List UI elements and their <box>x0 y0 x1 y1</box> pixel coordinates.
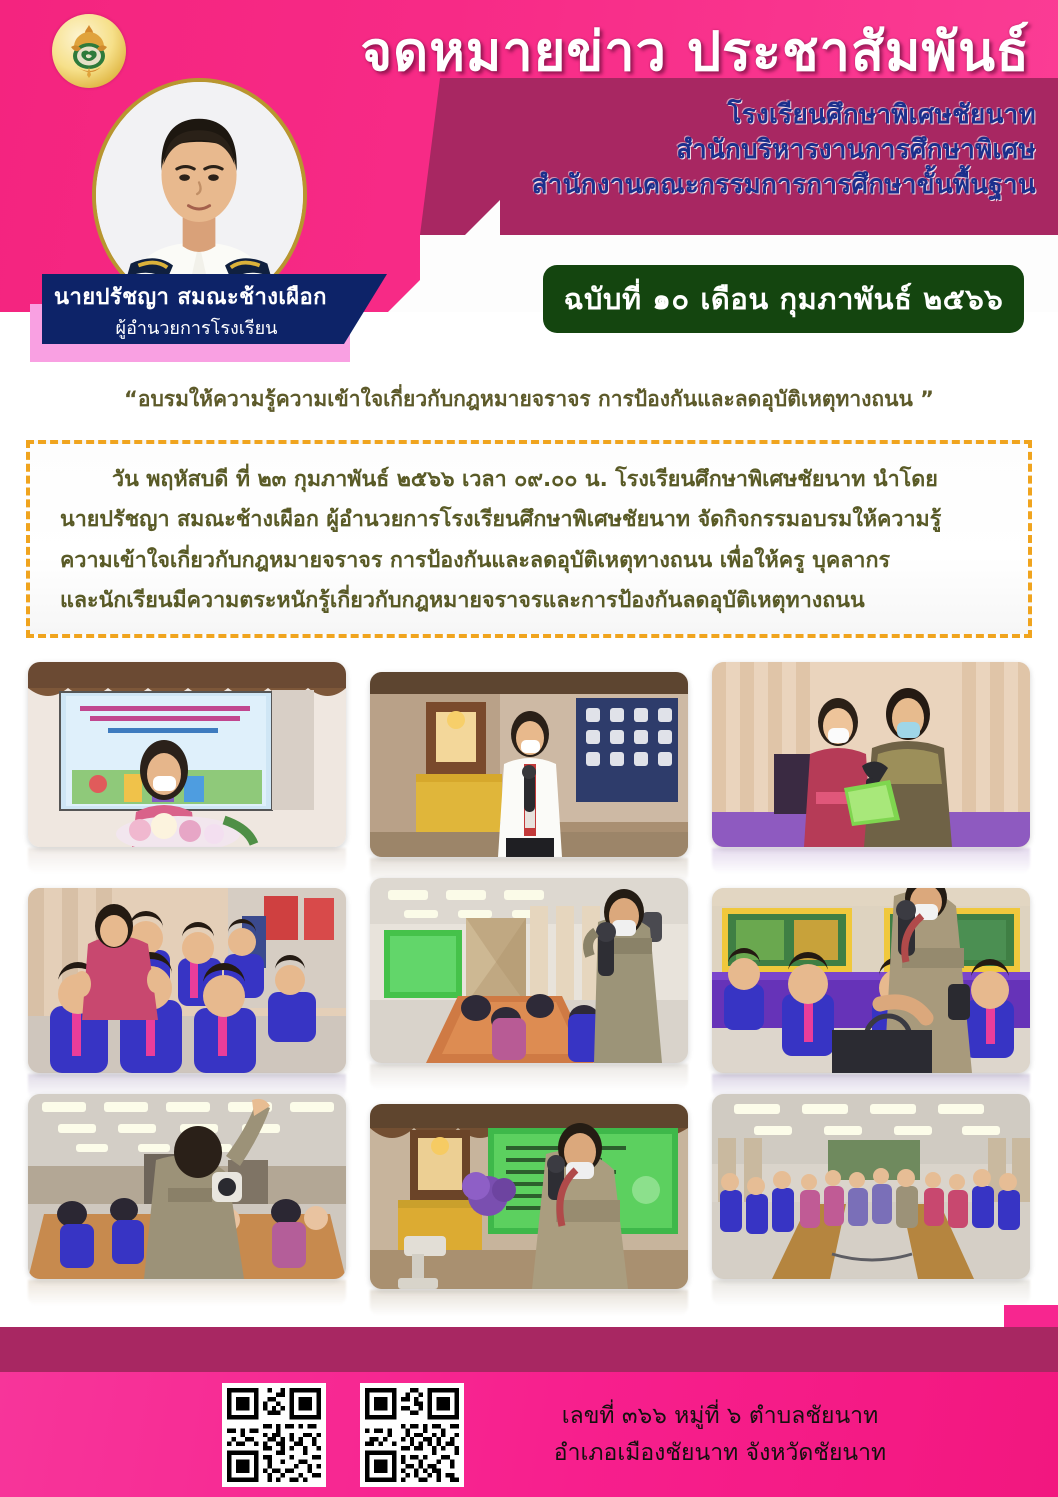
body-line-2: นายปรัชญา สมณะช้างเผือก ผู้อำนวยการโรงเร… <box>60 500 998 540</box>
photo-reflection <box>28 1280 346 1306</box>
photo-2 <box>370 672 688 857</box>
photo-6 <box>712 888 1030 1073</box>
director-name: นายปรัชญา สมณะช้างเผือก <box>54 279 387 314</box>
director-banner: นายปรัชญา สมณะช้างเผือก ผู้อำนวยการโรงเร… <box>42 274 387 344</box>
photo-reflection <box>370 1290 688 1316</box>
photo-8 <box>370 1104 688 1289</box>
activity-quote: “อบรมให้ความรู้ความเข้าใจเกี่ยวกับกฎหมาย… <box>0 383 1058 416</box>
body-line-4: และนักเรียนมีความตระหนักรู้เกี่ยวกับกฎหม… <box>60 581 998 621</box>
photo-9 <box>712 1094 1030 1279</box>
address-line-2: อำเภอเมืองชัยนาท จังหวัดชัยนาท <box>500 1435 940 1472</box>
obec-garuda-emblem-icon <box>52 14 126 88</box>
body-line-1: วัน พฤหัสบดี ที่ ๒๓ กุมภาพันธ์ ๒๕๖๖ เวลา… <box>60 460 998 500</box>
director-role: ผู้อำนวยการโรงเรียน <box>54 313 387 342</box>
qr-code-right[interactable] <box>360 1383 464 1487</box>
body-line-3: ความเข้าใจเกี่ยวกับกฎหมายจราจร การป้องกั… <box>60 541 998 581</box>
photo-row-1 <box>28 662 1030 874</box>
qr-code-left[interactable] <box>222 1383 326 1487</box>
footer-magenta-band <box>0 1327 1058 1372</box>
photo-4 <box>28 888 346 1073</box>
body-text-box: วัน พฤหัสบดี ที่ ๒๓ กุมภาพันธ์ ๒๕๖๖ เวลา… <box>26 440 1032 638</box>
photo-3 <box>712 662 1030 847</box>
org-line-1: โรงเรียนศึกษาพิเศษชัยนาท <box>416 98 1036 133</box>
photo-row-3 <box>28 1094 1030 1306</box>
photo-1 <box>28 662 346 847</box>
org-line-2: สำนักบริหารงานการศึกษาพิเศษ <box>416 133 1036 168</box>
organization-lines: โรงเรียนศึกษาพิเศษชัยนาท สำนักบริหารงานก… <box>416 98 1036 202</box>
photo-reflection <box>370 1064 688 1090</box>
address-line-1: เลขที่ ๓๖๖ หมู่ที่ ๖ ตำบลชัยนาท <box>500 1398 940 1435</box>
photo-reflection <box>712 1280 1030 1306</box>
issue-badge: ฉบับที่ ๑๐ เดือน กุมภาพันธ์ ๒๕๖๖ <box>543 265 1024 333</box>
photo-gallery <box>28 662 1030 1322</box>
school-address: เลขที่ ๓๖๖ หมู่ที่ ๖ ตำบลชัยนาท อำเภอเมื… <box>500 1398 940 1473</box>
photo-row-2 <box>28 878 1030 1090</box>
photo-reflection <box>28 848 346 874</box>
photo-7 <box>28 1094 346 1279</box>
org-line-3: สำนักงานคณะกรรมการการศึกษาขั้นพื้นฐาน <box>416 168 1036 203</box>
photo-5 <box>370 878 688 1063</box>
photo-reflection <box>712 848 1030 874</box>
